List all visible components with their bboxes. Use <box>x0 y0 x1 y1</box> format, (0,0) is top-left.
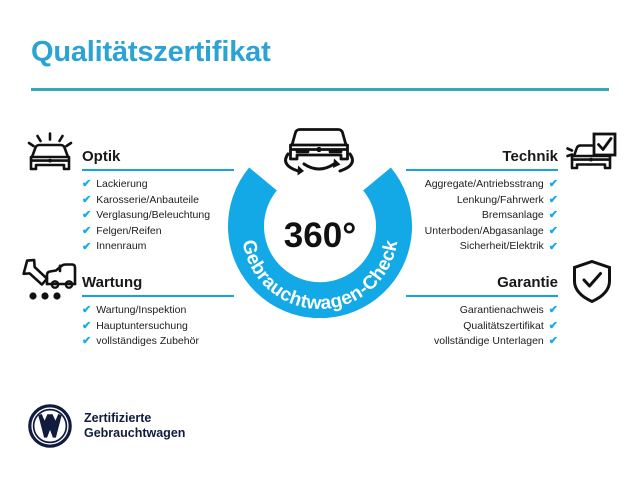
list-item-label: vollständiges Zubehör <box>96 334 199 350</box>
footer-brand: Zertifizierte Gebrauchtwagen <box>28 404 185 448</box>
shield-check-icon <box>571 259 613 309</box>
section-optik-divider <box>82 169 234 171</box>
list-item: Bremsanlage✔ <box>406 208 558 224</box>
list-item: ✔vollständiges Zubehör <box>82 334 234 350</box>
list-item-label: Garantienachweis <box>460 303 544 319</box>
check-icon: ✔ <box>82 210 91 221</box>
section-technik-list: Aggregate/Antriebsstrang✔ Lenkung/Fahrwe… <box>406 177 558 255</box>
list-item-label: vollständige Unterlagen <box>434 334 544 350</box>
footer-brand-line2: Gebrauchtwagen <box>84 426 185 441</box>
car-checkbox-icon <box>566 132 618 181</box>
section-technik-header: Technik <box>406 141 558 171</box>
section-wartung-header: Wartung <box>82 267 234 297</box>
badge-center-text: 360° <box>284 216 356 255</box>
section-garantie: Garantie Garantienachweis✔ Qualitätszert… <box>406 267 558 350</box>
header-divider <box>31 88 609 91</box>
list-item: ✔Wartung/Inspektion <box>82 303 234 319</box>
section-wartung: Wartung ✔Wartung/Inspektion ✔Hauptunters… <box>82 267 234 350</box>
section-garantie-title: Garantie <box>497 274 558 291</box>
list-item: ✔Lackierung <box>82 177 234 193</box>
check-icon: ✔ <box>549 305 558 316</box>
list-item-label: Unterboden/Abgasanlage <box>425 224 544 240</box>
list-item: vollständige Unterlagen✔ <box>406 334 558 350</box>
list-item: ✔Innenraum <box>82 239 234 255</box>
sparkling-car-icon <box>25 132 75 181</box>
check-icon: ✔ <box>549 242 558 253</box>
badge-360-gebrauchtwagen-check: Gebrauchtwagen-Check 360° <box>222 118 418 318</box>
list-item: Aggregate/Antriebsstrang✔ <box>406 177 558 193</box>
list-item: Lenkung/Fahrwerk✔ <box>406 193 558 209</box>
check-icon: ✔ <box>82 321 91 332</box>
footer-brand-text: Zertifizierte Gebrauchtwagen <box>84 411 185 441</box>
list-item: Garantienachweis✔ <box>406 303 558 319</box>
list-item-label: Karosserie/Anbauteile <box>96 193 199 209</box>
check-icon: ✔ <box>82 179 91 190</box>
section-wartung-divider <box>82 295 234 297</box>
list-item-label: Lenkung/Fahrwerk <box>457 193 544 209</box>
page-title: Qualitätszertifikat <box>31 36 271 69</box>
list-item-label: Verglasung/Beleuchtung <box>96 208 210 224</box>
list-item: ✔Hauptuntersuchung <box>82 319 234 335</box>
check-icon: ✔ <box>82 305 91 316</box>
list-item-label: Innenraum <box>96 239 146 255</box>
list-item-label: Felgen/Reifen <box>96 224 161 240</box>
list-item: Qualitätszertifikat✔ <box>406 319 558 335</box>
check-icon: ✔ <box>549 195 558 206</box>
footer-brand-line1: Zertifizierte <box>84 411 185 426</box>
wrench-car-icon <box>22 257 78 308</box>
list-item: Sicherheit/Elektrik✔ <box>406 239 558 255</box>
list-item: ✔Karosserie/Anbauteile <box>82 193 234 209</box>
section-technik-divider <box>406 169 558 171</box>
check-icon: ✔ <box>82 336 91 347</box>
section-technik: Technik Aggregate/Antriebsstrang✔ Lenkun… <box>406 141 558 255</box>
section-garantie-list: Garantienachweis✔ Qualitätszertifikat✔ v… <box>406 303 558 350</box>
section-garantie-divider <box>406 295 558 297</box>
list-item-label: Lackierung <box>96 177 147 193</box>
check-icon: ✔ <box>549 179 558 190</box>
list-item-label: Hauptuntersuchung <box>96 319 188 335</box>
list-item: ✔Felgen/Reifen <box>82 224 234 240</box>
list-item-label: Bremsanlage <box>482 208 544 224</box>
section-optik-header: Optik <box>82 141 234 171</box>
check-icon: ✔ <box>549 321 558 332</box>
section-technik-title: Technik <box>502 148 558 165</box>
check-icon: ✔ <box>82 242 91 253</box>
section-optik-list: ✔Lackierung ✔Karosserie/Anbauteile ✔Verg… <box>82 177 234 255</box>
volkswagen-logo <box>28 404 72 448</box>
check-icon: ✔ <box>549 336 558 347</box>
list-item: Unterboden/Abgasanlage✔ <box>406 224 558 240</box>
check-icon: ✔ <box>82 226 91 237</box>
section-optik-title: Optik <box>82 148 120 165</box>
section-garantie-header: Garantie <box>406 267 558 297</box>
check-icon: ✔ <box>549 226 558 237</box>
list-item-label: Sicherheit/Elektrik <box>460 239 544 255</box>
section-optik: Optik ✔Lackierung ✔Karosserie/Anbauteile… <box>82 141 234 255</box>
check-icon: ✔ <box>549 210 558 221</box>
check-icon: ✔ <box>82 195 91 206</box>
section-wartung-title: Wartung <box>82 274 142 291</box>
list-item-label: Aggregate/Antriebsstrang <box>425 177 544 193</box>
list-item-label: Wartung/Inspektion <box>96 303 186 319</box>
list-item-label: Qualitätszertifikat <box>463 319 544 335</box>
qualitaetszertifikat-page: Qualitätszertifikat <box>0 0 640 480</box>
section-wartung-list: ✔Wartung/Inspektion ✔Hauptuntersuchung ✔… <box>82 303 234 350</box>
list-item: ✔Verglasung/Beleuchtung <box>82 208 234 224</box>
